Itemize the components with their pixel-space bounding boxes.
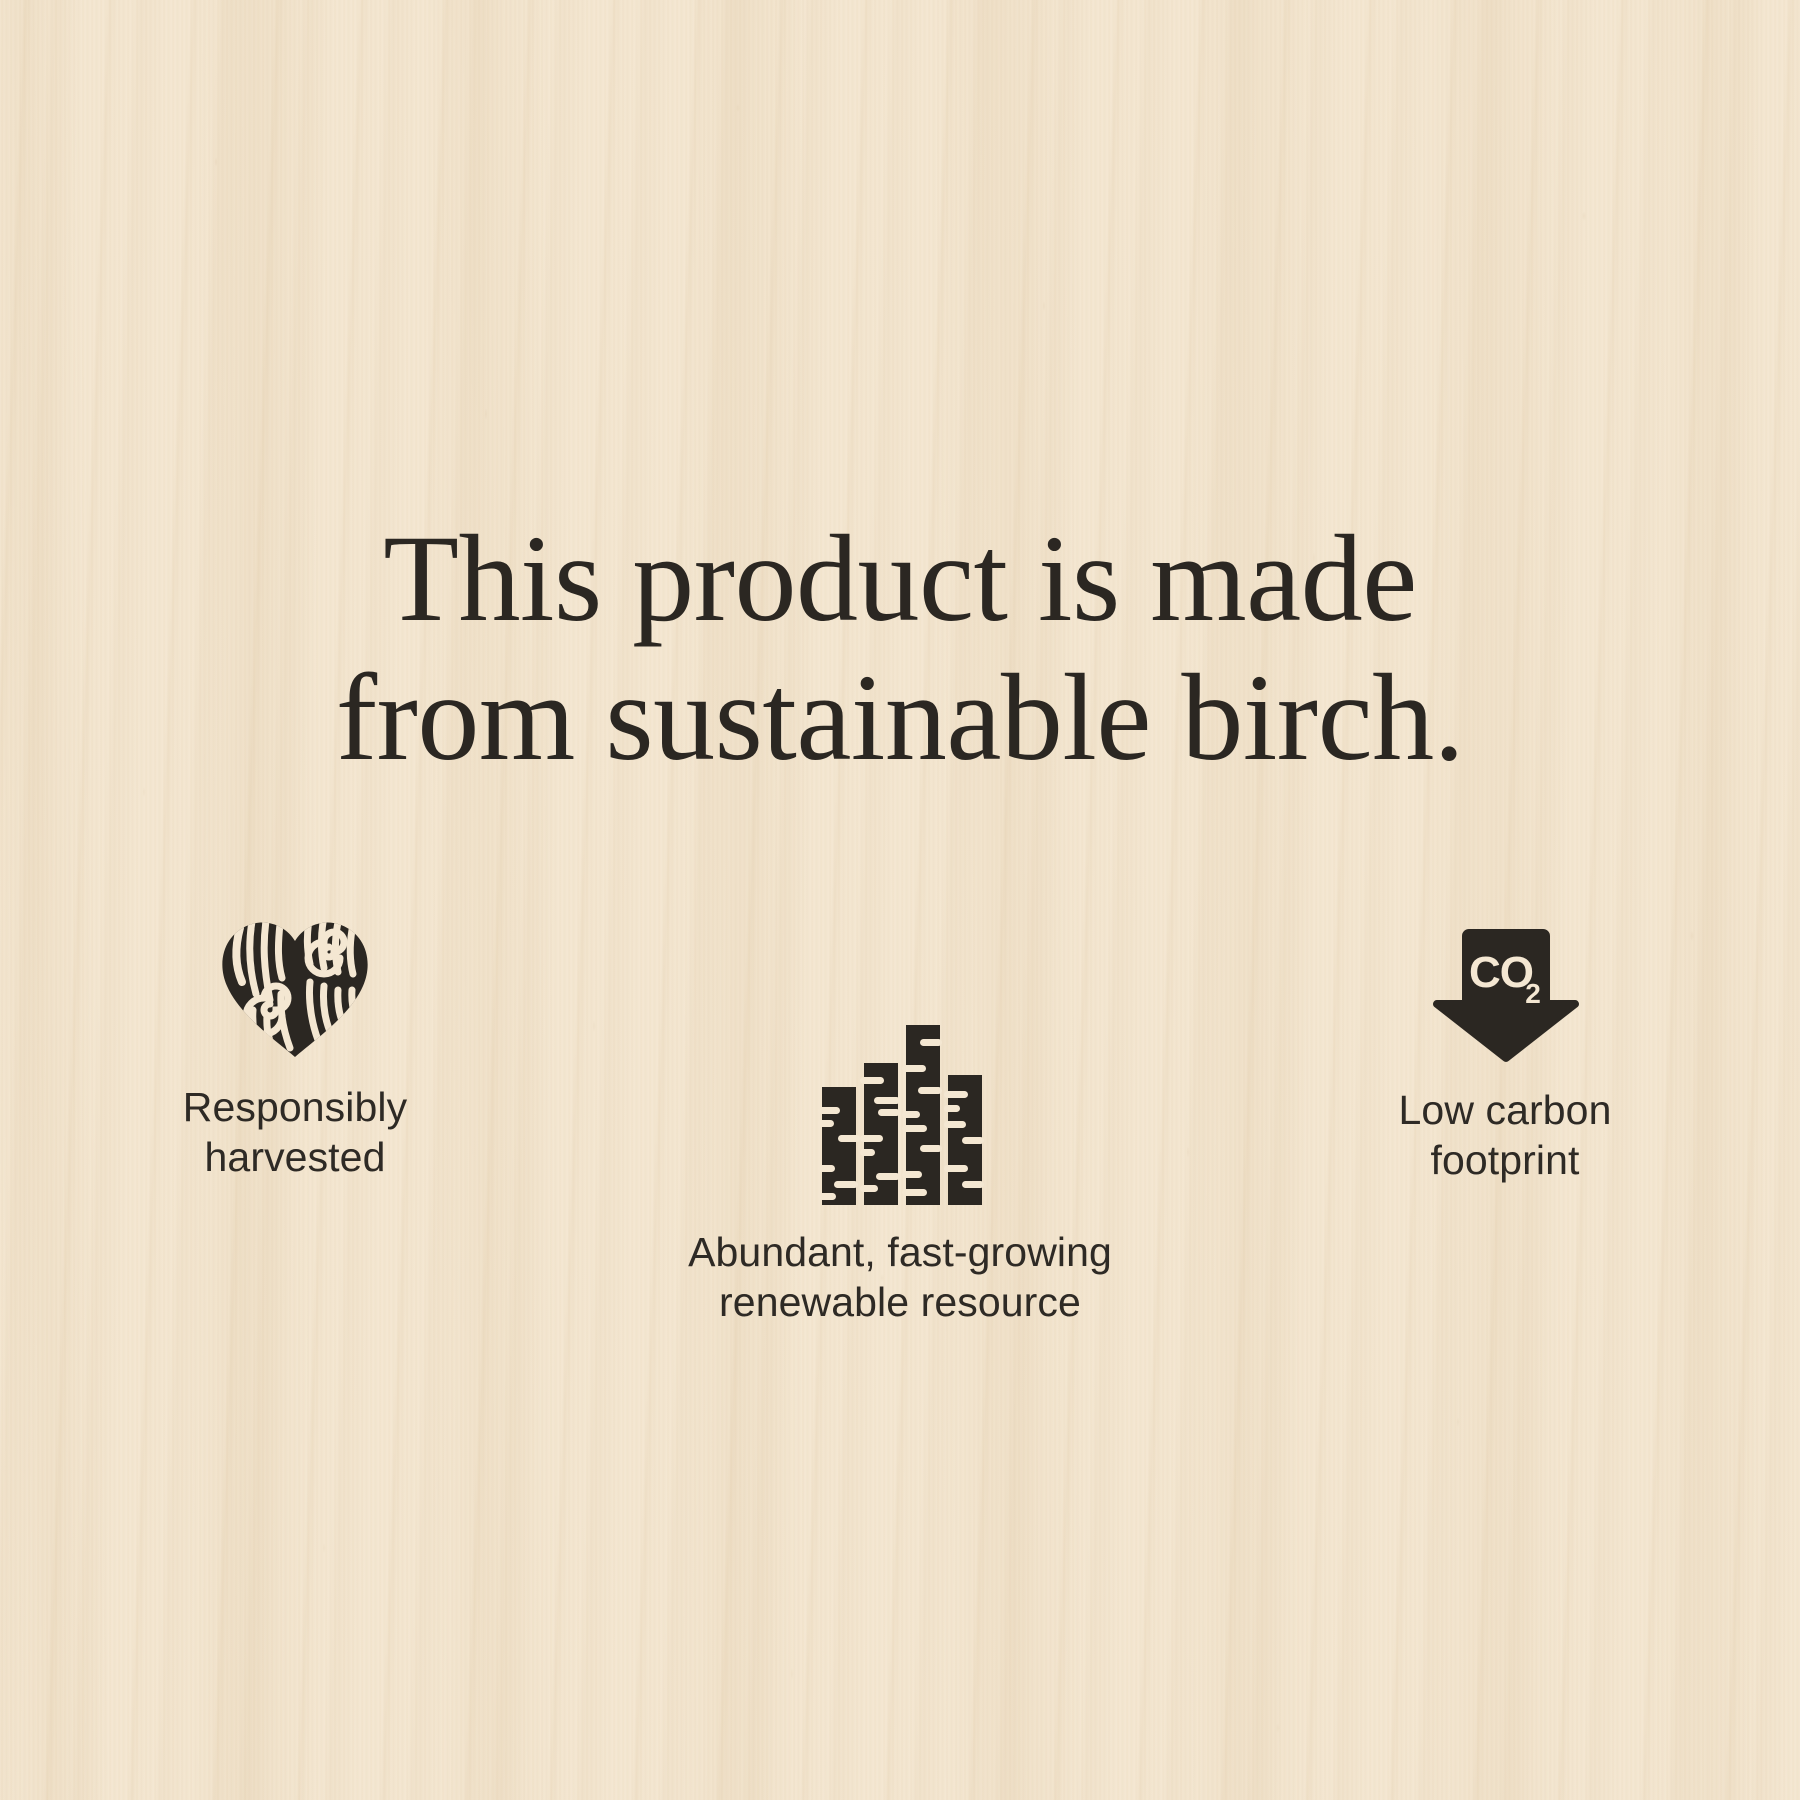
benefit-caption-line-1: Abundant, fast-growing (590, 1227, 1210, 1277)
sustainability-card: This product is made from sustainable bi… (0, 0, 1800, 1800)
birch-trunks-icon (816, 1025, 984, 1205)
benefit-caption: Abundant, fast-growing renewable resourc… (590, 1227, 1210, 1327)
benefits-row: Responsibly harvested (0, 900, 1800, 1420)
benefit-caption-line-1: Responsibly (75, 1082, 515, 1132)
benefit-caption-line-2: harvested (75, 1132, 515, 1182)
wood-grain-heart-icon (220, 920, 370, 1060)
benefit-caption-line-2: footprint (1285, 1135, 1725, 1185)
page-title: This product is made from sustainable bi… (0, 513, 1800, 784)
benefit-caption: Low carbon footprint (1285, 1085, 1725, 1185)
benefit-caption-line-1: Low carbon (1285, 1085, 1725, 1135)
benefit-renewable-resource: Abundant, fast-growing renewable resourc… (590, 1025, 1210, 1327)
benefit-caption: Responsibly harvested (75, 1082, 515, 1182)
co2-down-arrow-icon: CO 2 (1426, 925, 1584, 1063)
headline-line-1: This product is made (120, 513, 1680, 646)
co2-subscript-text: 2 (1525, 978, 1541, 1009)
co2-label-text: CO (1469, 948, 1533, 997)
benefit-responsibly-harvested: Responsibly harvested (75, 920, 515, 1182)
headline-line-2: from sustainable birch. (120, 652, 1680, 785)
benefit-low-carbon-footprint: CO 2 Low carbon footprint (1285, 925, 1725, 1185)
benefit-caption-line-2: renewable resource (590, 1277, 1210, 1327)
benefit-icon-wrap (590, 1025, 1210, 1205)
benefit-icon-wrap (75, 920, 515, 1060)
benefit-icon-wrap: CO 2 (1285, 925, 1725, 1063)
